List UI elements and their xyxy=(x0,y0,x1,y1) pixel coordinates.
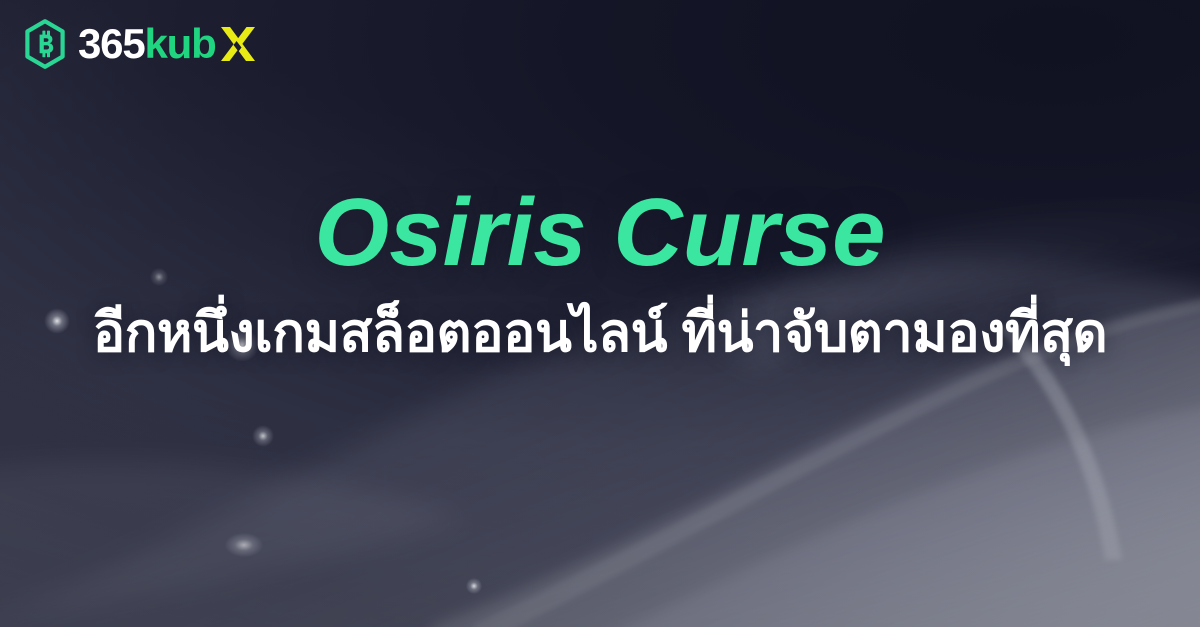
brand-text-kub: kub xyxy=(144,23,215,65)
promo-banner: 365kub Osiris Curse อีกหนึ่งเกมสล็อตออนไ… xyxy=(0,0,1200,627)
brand-wordmark: 365kub xyxy=(78,23,259,65)
hero-headline: Osiris Curse อีกหนึ่งเกมสล็อตออนไลน์ ที่… xyxy=(0,183,1200,366)
brand-x-icon xyxy=(217,23,259,65)
page-title: Osiris Curse xyxy=(0,183,1200,284)
brand-text-365: 365 xyxy=(78,23,144,65)
brand-logo[interactable]: 365kub xyxy=(22,17,259,71)
page-subtitle: อีกหนึ่งเกมสล็อตออนไลน์ ที่น่าจับตามองที… xyxy=(0,284,1200,366)
bitcoin-hexagon-icon xyxy=(22,18,68,70)
